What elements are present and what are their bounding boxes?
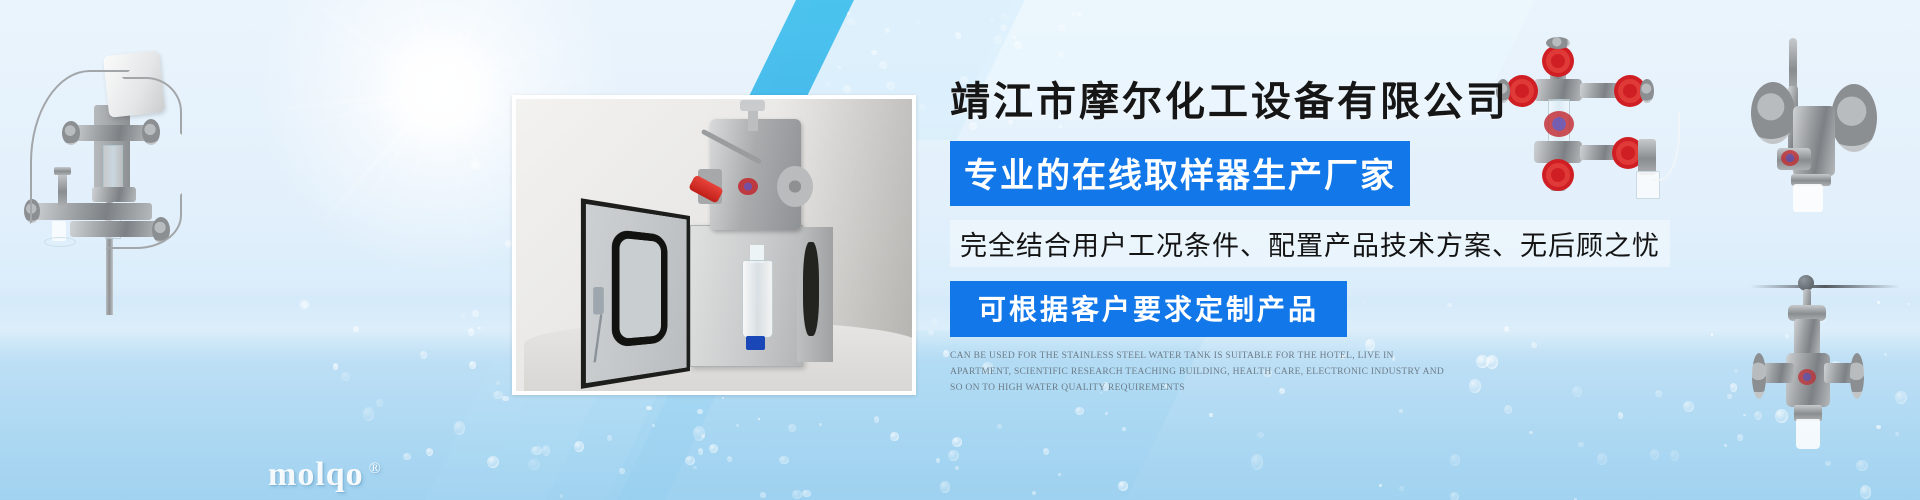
water-droplet <box>472 310 479 317</box>
water-droplet <box>955 466 959 470</box>
product-right-top-lever-valve <box>1735 30 1920 220</box>
water-droplet <box>468 328 474 336</box>
gate-flange-left <box>1752 353 1766 399</box>
sun-ray <box>439 0 447 90</box>
water-droplet <box>461 314 465 318</box>
sun-ray <box>439 90 442 180</box>
sun-ray <box>439 33 586 91</box>
water-droplet <box>478 327 480 330</box>
registered-mark-icon: ® <box>369 460 382 477</box>
water-droplet <box>1683 401 1694 412</box>
water-droplet <box>1399 486 1403 491</box>
promo-banner: 靖江市摩尔化工设备有限公司 专业的在线取样器生产厂家 完全结合用户工况条件、配置… <box>0 0 1920 500</box>
water-droplet <box>843 85 851 93</box>
water-droplet <box>341 372 349 381</box>
water-droplet <box>802 490 811 497</box>
water-droplet <box>353 326 359 332</box>
headline-copy-block: 靖江市摩尔化工设备有限公司 专业的在线取样器生产厂家 完全结合用户工况条件、配置… <box>950 78 1690 396</box>
gate-sample-bottle <box>1796 419 1820 449</box>
water-droplet <box>697 409 703 414</box>
water-droplet <box>496 381 500 385</box>
handle-bar <box>1750 285 1900 288</box>
water-droplet <box>919 104 924 109</box>
water-droplet <box>1711 333 1713 335</box>
watermark-text: molqo <box>268 456 364 493</box>
water-droplet <box>886 81 895 90</box>
water-droplet <box>1043 448 1049 455</box>
water-droplet <box>1001 13 1009 21</box>
water-droplet <box>838 66 841 69</box>
water-droplet <box>709 444 718 453</box>
product-left-pole-sampler <box>10 25 210 315</box>
water-droplet <box>1825 461 1832 467</box>
sun-ray <box>439 0 485 91</box>
slogan-secondary: 完全结合用户工况条件、配置产品技术方案、无后顾之忧 <box>950 220 1670 267</box>
water-droplet <box>1013 36 1016 39</box>
valve-sample-bottle <box>1793 184 1823 212</box>
water-droplet <box>885 28 890 33</box>
water-droplet <box>847 18 855 26</box>
sun-ray <box>439 89 500 173</box>
water-droplet <box>1670 450 1678 460</box>
valve-flange-right <box>1831 84 1877 152</box>
water-droplet <box>994 35 1003 44</box>
water-droplet <box>948 450 959 461</box>
water-droplet <box>936 458 940 463</box>
photo-cabinet-handle <box>803 242 819 335</box>
water-droplet <box>722 397 725 399</box>
photo-door-window <box>612 228 668 348</box>
water-droplet <box>1730 383 1737 392</box>
water-droplet <box>1257 432 1264 438</box>
sun-ray <box>348 89 441 227</box>
hose-lower <box>106 193 182 249</box>
water-droplet <box>1650 449 1660 459</box>
water-droplet <box>1504 405 1512 414</box>
gate-flange-right <box>1850 353 1864 399</box>
water-droplet <box>871 50 877 56</box>
water-droplet <box>542 445 550 456</box>
gate-bonnet <box>1794 319 1820 357</box>
water-droplet <box>915 20 920 25</box>
lens-flare-dot <box>300 300 309 309</box>
water-droplet <box>788 424 796 432</box>
photo-brand-seal <box>738 178 758 196</box>
water-droplet <box>1597 453 1608 465</box>
water-droplet <box>1209 413 1212 416</box>
sun-ray <box>289 0 441 91</box>
water-droplet <box>997 424 1002 429</box>
sun-ray <box>439 0 518 91</box>
company-name: 靖江市摩尔化工设备有限公司 <box>950 78 1690 125</box>
sun-ray <box>290 89 441 131</box>
water-droplet <box>1529 431 1532 434</box>
water-droplet <box>376 399 383 406</box>
water-droplet <box>1578 442 1583 448</box>
water-droplet <box>1075 407 1084 415</box>
water-droplet <box>1058 473 1061 476</box>
water-droplet <box>528 459 540 470</box>
product-right-bottom-gate-valve <box>1748 265 1918 460</box>
water-droplet <box>693 426 705 441</box>
water-droplet <box>574 441 584 452</box>
sun-ray <box>439 90 475 262</box>
water-droplet <box>819 423 822 426</box>
water-droplet <box>693 466 697 469</box>
water-droplet <box>1450 492 1459 500</box>
water-droplet <box>991 19 993 21</box>
water-droplet <box>1118 481 1127 491</box>
handwheel-top <box>1546 49 1570 73</box>
water-droplet <box>952 437 962 446</box>
water-droplet <box>487 456 499 468</box>
slogan-primary-badge: 专业的在线取样器生产厂家 <box>950 141 1410 206</box>
water-droplet <box>701 434 705 438</box>
photo-door-key <box>594 314 603 362</box>
water-droplet <box>1399 409 1404 413</box>
photo-sample-bottle <box>742 260 774 338</box>
watermark-logo: molqo® <box>268 456 382 494</box>
water-droplet <box>646 406 651 410</box>
sun-ray <box>440 75 633 91</box>
photo-door-lock <box>593 286 603 314</box>
water-droplet <box>1737 434 1743 441</box>
sun-ray <box>397 0 442 90</box>
water-droplet <box>847 12 850 15</box>
water-droplet <box>1251 454 1264 470</box>
valve-brand-seal <box>1781 150 1799 166</box>
water-droplet <box>827 83 830 86</box>
bottle-ring <box>44 237 76 247</box>
water-droplet <box>1743 414 1746 417</box>
water-droplet <box>652 424 655 427</box>
water-droplet <box>792 490 802 499</box>
water-droplet <box>1077 12 1082 17</box>
water-droplet <box>698 448 703 455</box>
water-droplet <box>1724 444 1727 447</box>
water-droplet <box>955 32 962 39</box>
water-droplet <box>1727 394 1732 399</box>
water-droplet <box>928 330 934 336</box>
water-droplet <box>420 351 427 359</box>
sun-ray <box>377 11 442 91</box>
water-droplet <box>1105 412 1108 415</box>
water-droplet <box>1379 484 1382 487</box>
water-droplet <box>1450 454 1460 466</box>
photo-blue-cap <box>746 336 766 351</box>
water-droplet <box>1122 427 1126 432</box>
sun-ray <box>309 23 441 91</box>
water-droplet <box>685 456 695 465</box>
water-droplet <box>1860 485 1871 498</box>
water-droplet <box>363 407 374 421</box>
water-droplet <box>1058 24 1065 31</box>
water-droplet <box>727 456 732 461</box>
water-droplet <box>531 446 542 455</box>
water-droplet <box>1058 52 1064 58</box>
sun-ray <box>439 0 583 91</box>
center-product-photo <box>512 95 916 395</box>
water-droplet <box>1734 369 1739 373</box>
cross-flange-top <box>1546 37 1570 49</box>
water-droplet <box>758 418 760 420</box>
water-droplet <box>931 318 939 325</box>
water-droplet <box>779 456 788 464</box>
sun-ray <box>249 89 440 115</box>
sun-ray <box>439 89 506 213</box>
water-droplet <box>1000 24 1007 31</box>
valve-flange-left <box>1751 82 1795 144</box>
gate-brand-seal <box>1798 369 1816 385</box>
sun-ray <box>439 32 545 92</box>
water-droplet <box>493 391 503 400</box>
sun-ray <box>388 0 441 91</box>
water-droplet <box>736 424 740 427</box>
water-droplet <box>760 492 767 498</box>
water-droplet <box>879 61 887 69</box>
sun-ray <box>332 70 440 92</box>
water-droplet <box>1618 412 1623 418</box>
water-droplet <box>940 481 950 493</box>
water-droplet <box>860 71 862 73</box>
sun-ray <box>306 89 442 241</box>
fineprint-english: CAN BE USED FOR THE STAINLESS STEEL WATE… <box>950 349 1455 396</box>
sun-ray <box>402 90 442 212</box>
water-droplet <box>943 350 948 357</box>
water-droplet <box>454 421 465 435</box>
water-droplet <box>403 453 410 460</box>
water-droplet <box>874 416 880 423</box>
water-droplet <box>890 432 898 442</box>
water-droplet <box>607 435 612 441</box>
photo-valve-flange-right <box>777 166 813 207</box>
water-droplet <box>1014 41 1022 49</box>
photo-cabinet-door <box>581 198 690 388</box>
lens-flare-dot <box>505 240 512 247</box>
water-droplet <box>560 494 563 498</box>
water-droplet <box>1071 11 1076 16</box>
slogan-tertiary-badge: 可根据客户要求定制产品 <box>950 281 1347 337</box>
lens-flare-dot <box>470 160 480 170</box>
water-droplet <box>1856 460 1868 471</box>
water-droplet <box>619 468 624 474</box>
sun-ray <box>339 89 441 153</box>
water-droplet <box>333 363 338 370</box>
water-droplet <box>426 448 433 456</box>
water-droplet <box>1032 491 1036 495</box>
photo-valve-knob <box>740 100 766 110</box>
water-droplet <box>469 361 476 369</box>
hose-right <box>122 77 182 135</box>
water-droplet <box>502 396 509 401</box>
